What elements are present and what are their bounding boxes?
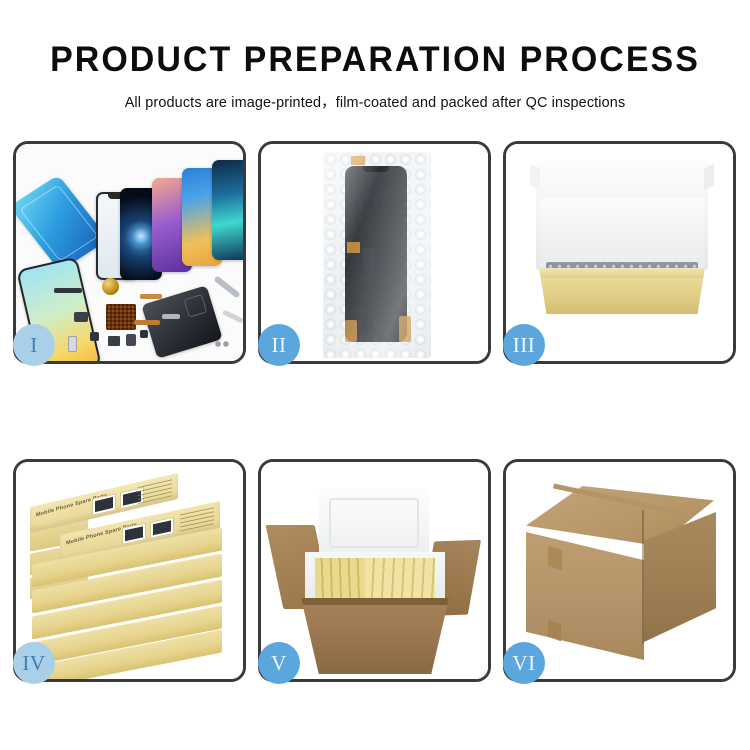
small-component-icon xyxy=(126,334,136,346)
box-side-left xyxy=(534,272,539,310)
carton-with-foam-box-illustration xyxy=(261,462,488,679)
screwdriver-tool-icon xyxy=(213,275,240,298)
product-preparation-process-page: PRODUCT PREPARATION PROCESS All products… xyxy=(0,0,750,750)
step-panel-3[interactable]: III xyxy=(503,141,736,364)
tweezers-tool-icon xyxy=(222,309,243,323)
component-strip-icon xyxy=(54,288,82,293)
shipping-carton-open-icon xyxy=(301,598,449,674)
box-side-right xyxy=(705,272,710,310)
step-panel-1[interactable]: I xyxy=(13,141,246,364)
step-panel-5[interactable]: V xyxy=(258,459,491,682)
page-subtitle: All products are image-printed，film-coat… xyxy=(0,79,750,112)
carton-vertical-edge xyxy=(642,510,644,644)
step-badge-4: IV xyxy=(13,642,55,684)
step-image-2 xyxy=(261,144,488,361)
flex-cable-icon xyxy=(134,320,160,325)
step-badge-1: I xyxy=(13,324,55,366)
carton-tape-lower xyxy=(548,620,561,642)
box-rim xyxy=(532,268,712,278)
phone-screen-teal-icon xyxy=(212,160,243,260)
foam-lined-box-illustration xyxy=(506,144,733,361)
yellow-inner-box-icon xyxy=(532,268,712,314)
box-spec-lines xyxy=(180,506,214,531)
page-title: PRODUCT PREPARATION PROCESS xyxy=(11,0,739,79)
box-window xyxy=(122,523,146,545)
bubble-wrap-package-icon xyxy=(323,152,431,358)
stacked-boxes-illustration: Mobile Phone Spare Parts Mobile Phone Sp… xyxy=(16,462,243,679)
header: PRODUCT PREPARATION PROCESS All products… xyxy=(0,0,750,112)
small-component-icon xyxy=(140,330,148,338)
metal-bracket-icon xyxy=(162,314,180,319)
small-component-icon xyxy=(74,312,88,322)
step-panel-6[interactable]: VI xyxy=(503,459,736,682)
step-panel-4[interactable]: Mobile Phone Spare Parts Mobile Phone Sp… xyxy=(13,459,246,682)
step-panel-2[interactable]: II xyxy=(258,141,491,364)
step-image-4: Mobile Phone Spare Parts Mobile Phone Sp… xyxy=(16,462,243,679)
copper-shield-grid-icon xyxy=(106,304,136,330)
battery-connector-icon xyxy=(68,336,77,352)
process-steps-grid: I II xyxy=(13,141,737,688)
packed-yellow-boxes-icon xyxy=(315,558,435,598)
foam-sheet-icon xyxy=(540,198,704,270)
step-badge-3: III xyxy=(503,324,545,366)
step-badge-5: V xyxy=(258,642,300,684)
foam-box-lid-icon xyxy=(319,488,429,560)
box-window xyxy=(150,517,174,539)
step-badge-2: II xyxy=(258,324,300,366)
phone-parts-illustration xyxy=(16,144,243,361)
small-component-icon xyxy=(90,332,99,341)
step-image-5 xyxy=(261,462,488,679)
bubble-wrapped-screen-illustration xyxy=(261,144,488,361)
small-component-icon xyxy=(108,336,120,346)
carton-front-face xyxy=(526,532,644,660)
screws-icon xyxy=(214,340,234,348)
plastic-sheen-overlay xyxy=(323,152,431,358)
speaker-coil-icon xyxy=(102,278,119,295)
step-badge-6: VI xyxy=(503,642,545,684)
sealed-carton-illustration xyxy=(506,462,733,679)
flex-cable-icon xyxy=(140,294,162,299)
step-image-1 xyxy=(16,144,243,361)
carton-inner-edge xyxy=(301,598,449,605)
step-image-6 xyxy=(506,462,733,679)
blue-adhesive-film-icon xyxy=(16,175,109,271)
step-image-3 xyxy=(506,144,733,361)
box-spec-lines xyxy=(138,478,172,504)
